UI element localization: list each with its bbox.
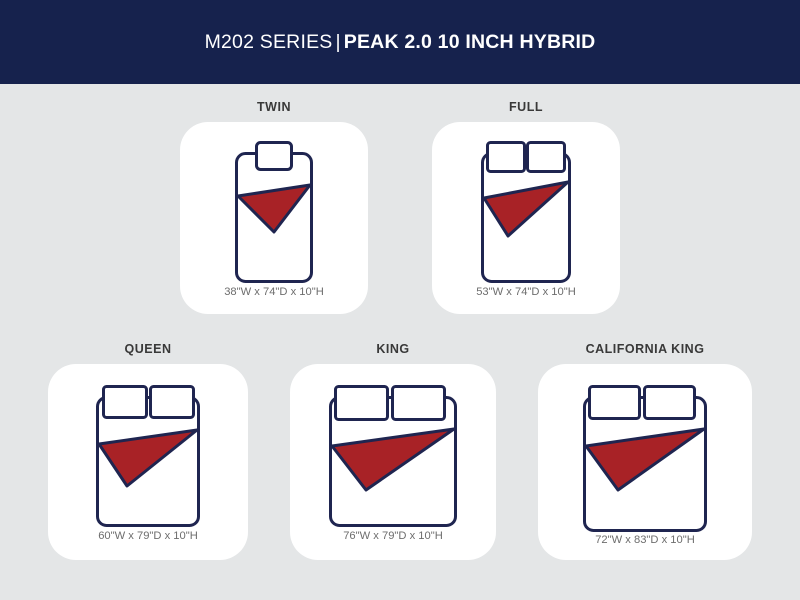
size-dimensions-queen: 60"W x 79"D x 10"H [98, 530, 198, 562]
size-label-california-king: CALIFORNIA KING [586, 342, 705, 356]
size-label-king: KING [376, 342, 409, 356]
size-label-full: FULL [509, 100, 543, 114]
bed-diagram-twin-icon [228, 140, 320, 286]
size-block-twin[interactable]: TWIN 38"W x 74"D x 10"H [180, 100, 368, 314]
size-row-top: TWIN 38"W x 74"D x 10"H FULL [0, 100, 800, 314]
size-card-california-king[interactable]: 72"W x 83"D x 10"H [538, 364, 752, 560]
header-separator: | [332, 31, 343, 53]
size-block-full[interactable]: FULL 53"W x 74"D x 10"H [432, 100, 620, 314]
size-card-twin[interactable]: 38"W x 74"D x 10"H [180, 122, 368, 314]
bed-illustration-king [322, 384, 464, 530]
bed-diagram-king-icon [322, 384, 464, 530]
bed-illustration-full [470, 140, 582, 286]
header-model-label: PEAK 2.0 10 INCH HYBRID [344, 31, 596, 53]
bed-illustration-twin [228, 140, 320, 286]
size-label-twin: TWIN [257, 100, 291, 114]
size-label-queen: QUEEN [125, 342, 172, 356]
size-block-queen[interactable]: QUEEN 60"W x 79"D x 10"H [48, 342, 248, 560]
size-card-full[interactable]: 53"W x 74"D x 10"H [432, 122, 620, 314]
size-dimensions-california-king: 72"W x 83"D x 10"H [595, 534, 695, 566]
page-title: M202 SERIES|PEAK 2.0 10 INCH HYBRID [205, 31, 596, 54]
bed-diagram-full-icon [470, 140, 582, 286]
size-dimensions-king: 76"W x 79"D x 10"H [343, 530, 443, 562]
size-block-california-king[interactable]: CALIFORNIA KING 72"W x 83"D x 10"H [538, 342, 752, 560]
size-chart-grid: TWIN 38"W x 74"D x 10"H FULL [0, 84, 800, 600]
size-card-king[interactable]: 76"W x 79"D x 10"H [290, 364, 496, 560]
bed-diagram-california-king-icon [576, 384, 714, 534]
size-card-queen[interactable]: 60"W x 79"D x 10"H [48, 364, 248, 560]
header-bar: M202 SERIES|PEAK 2.0 10 INCH HYBRID [0, 0, 800, 84]
bed-diagram-queen-icon [87, 384, 209, 530]
header-series-label: M202 SERIES [205, 31, 333, 53]
bed-illustration-queen [87, 384, 209, 530]
size-block-king[interactable]: KING 76"W x 79"D x 10"H [290, 342, 496, 560]
size-row-bottom: QUEEN 60"W x 79"D x 10"H KING [0, 342, 800, 560]
bed-illustration-california-king [576, 384, 714, 534]
size-dimensions-full: 53"W x 74"D x 10"H [476, 286, 576, 320]
size-dimensions-twin: 38"W x 74"D x 10"H [224, 286, 324, 320]
